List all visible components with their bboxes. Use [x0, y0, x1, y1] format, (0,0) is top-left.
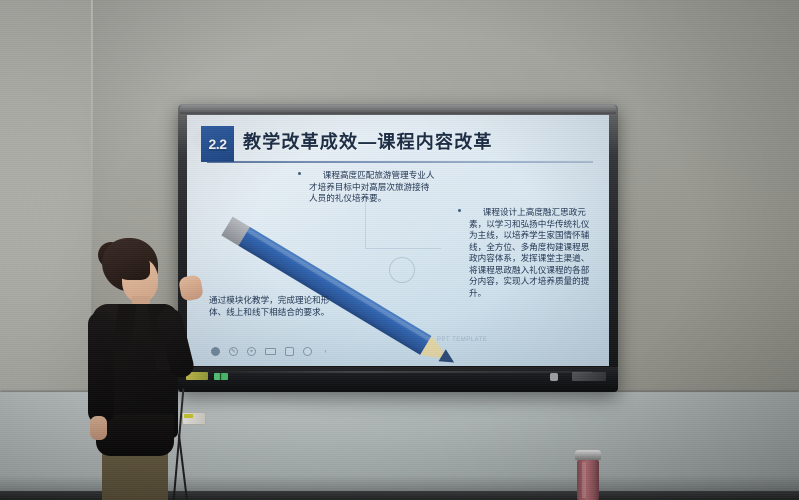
previous-slide-icon[interactable]: ‹ — [321, 347, 330, 356]
presentation-slide[interactable]: 2.2 教学改革成效—课程内容改革 PPT TEMPLATE 课程高度匹配旅游管… — [187, 115, 609, 366]
presenter-hair-front — [116, 252, 150, 280]
thermos-bottle — [575, 450, 601, 500]
ir-sensor-icon — [550, 373, 558, 381]
watermark-circle — [389, 257, 415, 283]
classroom-scene: 2.2 教学改革成效—课程内容改革 PPT TEMPLATE 课程高度匹配旅游管… — [0, 0, 799, 500]
bullet-text-top: 课程高度匹配旅游管理专业人才培养目标中对高层次旅游接待人员的礼仪培养要。 — [309, 170, 437, 205]
bullet-text: 课程高度匹配旅游管理专业人才培养目标中对高层次旅游接待人员的礼仪培养要。 — [309, 170, 437, 205]
display-screen[interactable]: 2.2 教学改革成效—课程内容改革 PPT TEMPLATE 课程高度匹配旅游管… — [187, 115, 609, 366]
slide-view-icon[interactable] — [265, 348, 276, 355]
microphone-cable-secondary — [178, 434, 192, 500]
slide-section-badge: 2.2 — [201, 126, 234, 162]
bullet-dot-icon — [458, 209, 461, 212]
wall-name-plate-strip — [184, 414, 193, 418]
display-brand-logo — [572, 372, 606, 381]
thermos-lid — [575, 450, 601, 460]
laser-pointer-icon[interactable]: ⌖ — [247, 347, 256, 356]
bullet-text: 通过模块化教学，完成理论和形体、线上和线下相结合的要求。 — [209, 295, 334, 318]
presenter — [80, 238, 210, 500]
power-led-icon — [214, 373, 228, 380]
watermark-text: PPT TEMPLATE — [437, 337, 487, 343]
more-options-icon[interactable] — [303, 347, 312, 356]
display-bezel-top-highlight — [180, 105, 616, 114]
title-underline — [207, 161, 593, 163]
wall-left-panel — [0, 0, 92, 396]
grid-view-icon[interactable] — [285, 347, 294, 356]
thermos-body — [577, 460, 599, 500]
thermos-highlight — [582, 462, 586, 498]
bullet-text-left: 通过模块化教学，完成理论和形体、线上和线下相结合的要求。 — [209, 295, 334, 318]
pen-icon[interactable]: ✎ — [229, 347, 238, 356]
bullet-text: 课程设计上高度融汇思政元素，以学习和弘扬中华传统礼仪为主线，以培养学生家国情怀辅… — [469, 207, 596, 299]
presentation-toolbar[interactable]: ✎ ⌖ ‹ — [211, 345, 330, 358]
slide-title: 教学改革成效—课程内容改革 — [243, 128, 493, 154]
bullet-text-right: 课程设计上高度融汇思政元素，以学习和弘扬中华传统礼仪为主线，以培养学生家国情怀辅… — [469, 207, 596, 299]
record-icon[interactable] — [211, 347, 220, 356]
bezel-sheen — [204, 371, 591, 373]
interactive-display[interactable]: 2.2 教学改革成效—课程内容改革 PPT TEMPLATE 课程高度匹配旅游管… — [178, 104, 618, 392]
presenter-hand-right — [178, 274, 204, 301]
presenter-arm-left — [88, 312, 114, 424]
presenter-hand-left — [90, 416, 107, 440]
bullet-dot-icon — [298, 172, 301, 175]
